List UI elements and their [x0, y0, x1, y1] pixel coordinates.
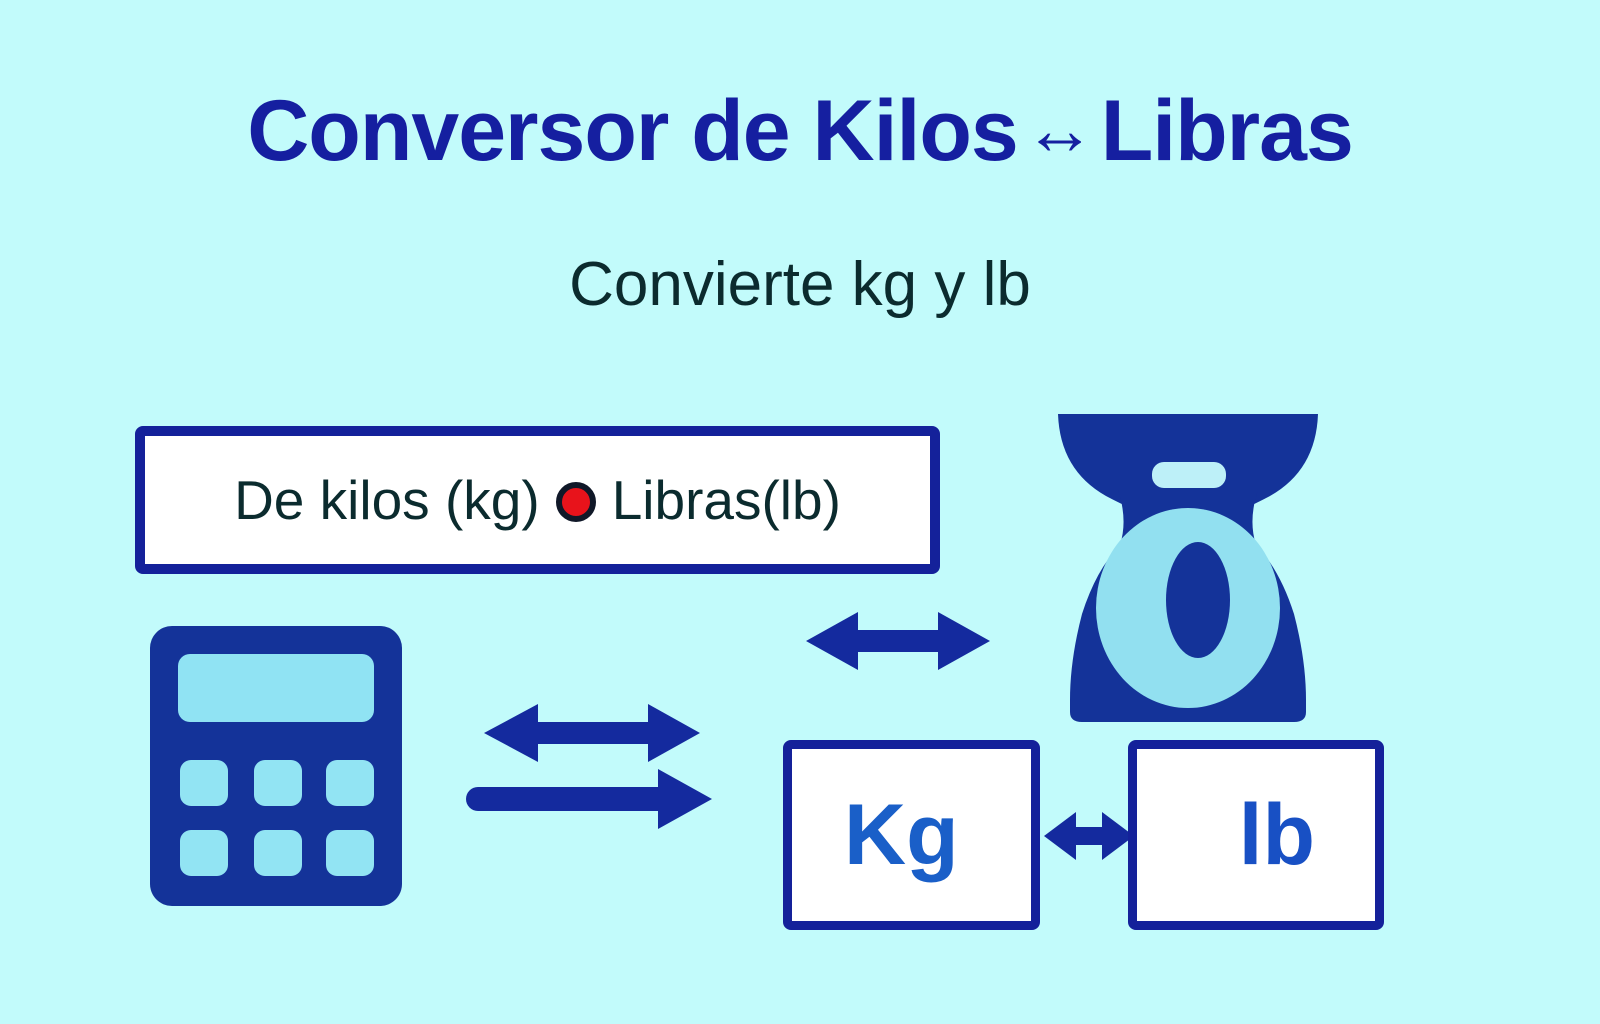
- calculator-key[interactable]: [326, 760, 374, 806]
- page-title: Conversor de Kilos↔Libras: [0, 86, 1600, 176]
- calculator-key[interactable]: [180, 760, 228, 806]
- arrow-calc-kg-double: [484, 704, 700, 762]
- arrow-calc-kg-single: [466, 769, 712, 829]
- conversion-direction-text: De kilos (kg) Libras(lb): [234, 468, 841, 532]
- page-title-after: Libras: [1101, 83, 1353, 179]
- unit-box-kg[interactable]: Kg: [783, 740, 1040, 930]
- left-right-arrow-icon: ↔: [1018, 93, 1101, 169]
- unit-box-lb[interactable]: lb: [1128, 740, 1384, 930]
- poster-canvas: Conversor de Kilos↔Libras Convierte kg y…: [0, 0, 1600, 1024]
- conversion-direction-box[interactable]: De kilos (kg) Libras(lb): [135, 426, 940, 574]
- kitchen-scale-icon[interactable]: [1058, 414, 1318, 722]
- option-to-libras[interactable]: Libras(lb): [596, 468, 841, 532]
- calculator-key[interactable]: [326, 830, 374, 876]
- scale-dial-hole: [1166, 542, 1230, 658]
- unit-label-lb: lb: [1239, 792, 1315, 878]
- calculator-icon[interactable]: [150, 626, 402, 906]
- calculator-key[interactable]: [254, 760, 302, 806]
- calculator-key[interactable]: [254, 830, 302, 876]
- page-subtitle: Convierte kg y lb: [0, 252, 1600, 317]
- arrow-kg-lb-double: [1044, 812, 1134, 860]
- page-title-before: Conversor de Kilos: [247, 83, 1018, 179]
- calculator-key[interactable]: [180, 830, 228, 876]
- unit-label-kg: Kg: [844, 792, 959, 878]
- radio-dot-icon[interactable]: [556, 482, 596, 522]
- option-from-kilos[interactable]: De kilos (kg): [234, 468, 556, 532]
- calculator-display: [178, 654, 374, 722]
- scale-neck-slot: [1152, 462, 1226, 488]
- arrow-scale-double: [806, 612, 990, 670]
